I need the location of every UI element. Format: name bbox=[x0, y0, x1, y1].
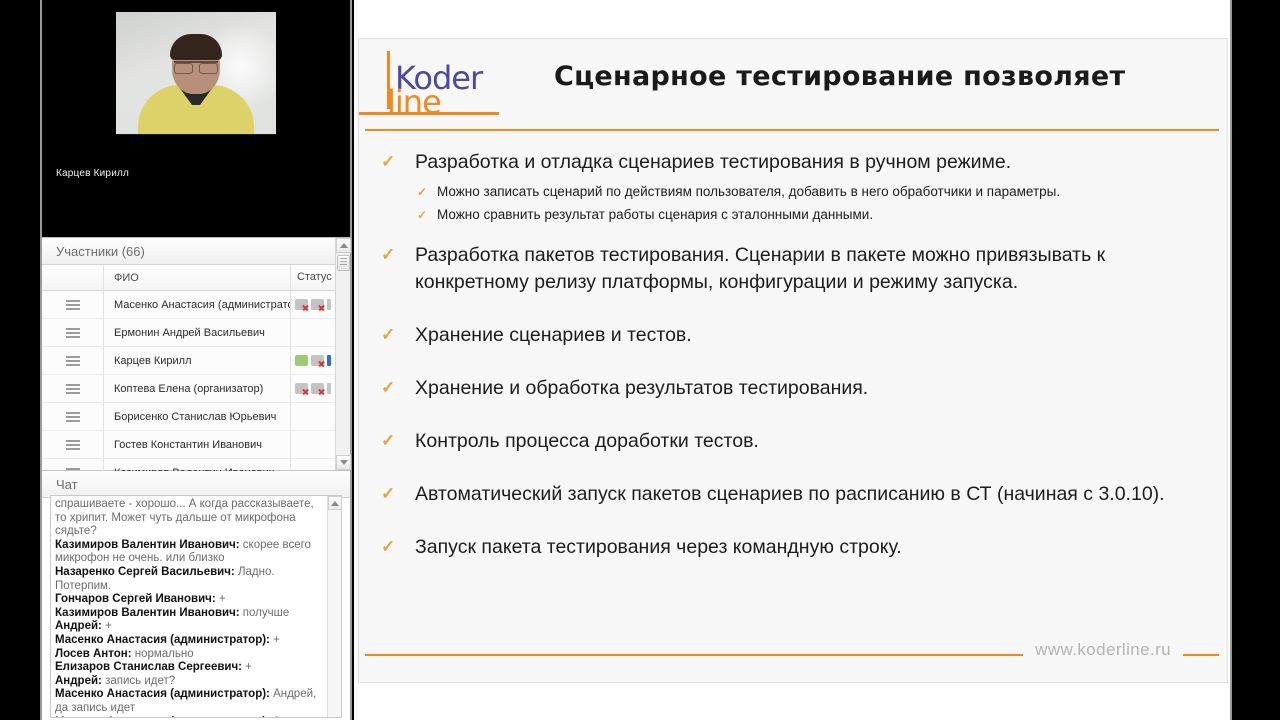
chat-scrollbar[interactable] bbox=[327, 496, 341, 717]
chat-message: Андрей: + bbox=[55, 620, 323, 634]
participants-title: Участники (66) bbox=[42, 238, 350, 265]
right-letterbox bbox=[1234, 0, 1280, 720]
slide-bullet-list: ✓Разработка и отладка сценариев тестиров… bbox=[381, 149, 1213, 587]
row-grip-icon[interactable] bbox=[42, 375, 104, 402]
slide-sub-bullet-text: Можно записать сценарий по действиям пол… bbox=[437, 182, 1060, 202]
table-row[interactable]: Борисенко Станислав Юрьевич bbox=[42, 403, 350, 431]
scroll-down-arrow-icon[interactable] bbox=[336, 455, 351, 470]
slide-bullet-text: Разработка пакетов тестирования. Сценари… bbox=[415, 242, 1213, 296]
chat-message: Масенко Анастасия (администратор): + bbox=[55, 634, 323, 648]
bullet-spacer bbox=[381, 408, 1213, 428]
bullet-spacer bbox=[381, 567, 1213, 587]
participant-name: Ермонин Андрей Васильевич bbox=[104, 327, 290, 339]
chat-title: Чат bbox=[42, 471, 350, 498]
participant-name: Гостев Константин Иванович bbox=[104, 439, 290, 451]
koderline-logo: Koder line bbox=[377, 51, 497, 123]
chat-message: Елизаров Станислав Сергеевич: + bbox=[55, 661, 323, 675]
slide-bullet: ✓Контроль процесса доработки тестов. bbox=[381, 428, 1213, 455]
camera-icon bbox=[311, 383, 324, 394]
scrollbar-thumb[interactable] bbox=[337, 255, 350, 271]
slide-bullet: ✓Хранение и обработка результатов тестир… bbox=[381, 375, 1213, 402]
meeting-window: Карцев Кирилл Участники (66) ФИО Статус … bbox=[0, 0, 1280, 720]
participant-name: Борисенко Станислав Юрьевич bbox=[104, 411, 290, 423]
slide-bullet-text: Разработка и отладка сценариев тестирова… bbox=[415, 149, 1011, 176]
slide-sub-bullet: ✓Можно сравнить результат работы сценари… bbox=[417, 205, 1213, 225]
bullet-spacer bbox=[381, 302, 1213, 322]
slide-sub-bullet: ✓Можно записать сценарий по действиям по… bbox=[417, 182, 1213, 202]
slide-footer: www.koderline.ru bbox=[365, 654, 1219, 656]
table-row[interactable]: Масенко Анастасия (администратор) bbox=[42, 291, 350, 319]
slide-bullet-text: Хранение и обработка результатов тестиро… bbox=[415, 375, 868, 402]
chat-message: спрашиваете - хорошо... А когда рассказы… bbox=[55, 498, 323, 539]
check-icon: ✓ bbox=[381, 149, 415, 175]
signal-level-icon bbox=[327, 299, 331, 310]
slide-header: Koder line Сценарное тестирование позвол… bbox=[359, 39, 1227, 131]
check-icon: ✓ bbox=[381, 428, 415, 454]
slide-bullet: ✓Хранение сценариев и тестов. bbox=[381, 322, 1213, 349]
logo-horizontal-bar bbox=[359, 112, 499, 115]
participants-scrollbar[interactable] bbox=[335, 238, 350, 470]
table-row[interactable]: Ермонин Андрей Васильевич bbox=[42, 319, 350, 347]
microphone-icon bbox=[295, 299, 308, 310]
webcam-panel[interactable]: Карцев Кирилл bbox=[42, 0, 350, 238]
check-icon: ✓ bbox=[381, 534, 415, 560]
chat-message: Лосев Антон: нормально bbox=[55, 648, 323, 662]
webcam-bottom-edge bbox=[116, 134, 276, 135]
left-letterbox bbox=[0, 0, 40, 720]
table-row[interactable]: Гостев Константин Иванович bbox=[42, 431, 350, 459]
webcam-video bbox=[116, 12, 276, 135]
webcam-person-glasses bbox=[174, 61, 218, 70]
row-grip-icon[interactable] bbox=[42, 403, 104, 430]
column-header-grip bbox=[42, 265, 104, 290]
chat-message: Казимиров Валентин Иванович: получше bbox=[55, 607, 323, 621]
chat-message-list[interactable]: спрашиваете - хорошо... А когда рассказы… bbox=[50, 495, 342, 718]
participants-table: ФИО Статус Масенко Анастасия (администра… bbox=[42, 265, 350, 487]
check-icon: ✓ bbox=[381, 322, 415, 348]
chat-message: Андрей: запись идет? bbox=[55, 675, 323, 689]
presentation-area: Koder line Сценарное тестирование позвол… bbox=[354, 0, 1232, 720]
footer-website: www.koderline.ru bbox=[1023, 640, 1183, 660]
bullet-spacer bbox=[381, 514, 1213, 534]
row-grip-icon[interactable] bbox=[42, 291, 104, 318]
slide-sub-bullet-text: Можно сравнить результат работы сценария… bbox=[437, 205, 873, 225]
participants-table-header: ФИО Статус bbox=[42, 265, 350, 291]
chat-scroll-up-arrow-icon[interactable] bbox=[328, 496, 342, 510]
slide: Koder line Сценарное тестирование позвол… bbox=[358, 38, 1228, 683]
slide-bullet: ✓Автоматический запуск пакетов сценариев… bbox=[381, 481, 1213, 508]
slide-bullet: ✓Разработка и отладка сценариев тестиров… bbox=[381, 149, 1213, 176]
row-grip-icon[interactable] bbox=[42, 319, 104, 346]
chat-message: Масенко Анастасия (администратор): Запис… bbox=[55, 716, 323, 719]
bullet-spacer bbox=[381, 461, 1213, 481]
title-divider bbox=[365, 129, 1219, 131]
participant-name: Карцев Кирилл bbox=[104, 355, 290, 367]
participant-name: Коптева Елена (организатор) bbox=[104, 383, 290, 395]
microphone-icon bbox=[295, 383, 308, 394]
signal-level-icon bbox=[327, 355, 331, 366]
participants-rows: Масенко Анастасия (администратор)Ермонин… bbox=[42, 291, 350, 487]
table-row[interactable]: Карцев Кирилл bbox=[42, 347, 350, 375]
webcam-name-label: Карцев Кирилл bbox=[56, 168, 129, 179]
chat-panel: Чат Общий спрашиваете - хорошо... А когд… bbox=[42, 471, 350, 720]
bullet-spacer bbox=[381, 228, 1213, 242]
slide-bullet-text: Хранение сценариев и тестов. bbox=[415, 322, 692, 349]
participant-name: Масенко Анастасия (администратор) bbox=[104, 299, 290, 311]
slide-bullet-text: Автоматический запуск пакетов сценариев … bbox=[415, 481, 1165, 508]
logo-text-line: line bbox=[387, 83, 441, 121]
chat-message: Казимиров Валентин Иванович: скорее всег… bbox=[55, 539, 323, 566]
check-icon: ✓ bbox=[381, 242, 415, 268]
microphone-icon bbox=[295, 355, 308, 366]
check-icon: ✓ bbox=[381, 375, 415, 401]
table-row[interactable]: Коптева Елена (организатор) bbox=[42, 375, 350, 403]
slide-bullet-text: Запуск пакета тестирования через командн… bbox=[415, 534, 902, 561]
chat-message: Назаренко Сергей Васильевич: Ладно. Поте… bbox=[55, 566, 323, 593]
row-grip-icon[interactable] bbox=[42, 347, 104, 374]
check-icon: ✓ bbox=[417, 205, 437, 225]
check-icon: ✓ bbox=[417, 182, 437, 202]
camera-icon bbox=[311, 355, 324, 366]
slide-bullet: ✓Разработка пакетов тестирования. Сценар… bbox=[381, 242, 1213, 296]
bullet-spacer bbox=[381, 355, 1213, 375]
column-header-name: ФИО bbox=[104, 272, 290, 284]
participants-panel: Участники (66) ФИО Статус Масенко Анаста… bbox=[42, 238, 350, 471]
chat-message: Гончаров Сергей Иванович: + bbox=[55, 593, 323, 607]
signal-level-icon bbox=[327, 383, 331, 394]
webcam-person-hair bbox=[170, 34, 222, 60]
slide-bullet: ✓Запуск пакета тестирования через команд… bbox=[381, 534, 1213, 561]
camera-icon bbox=[311, 299, 324, 310]
left-sidebar: Карцев Кирилл Участники (66) ФИО Статус … bbox=[40, 0, 352, 720]
check-icon: ✓ bbox=[381, 481, 415, 507]
scroll-up-arrow-icon[interactable] bbox=[336, 238, 351, 253]
row-grip-icon[interactable] bbox=[42, 431, 104, 458]
slide-bullet-text: Контроль процесса доработки тестов. bbox=[415, 428, 759, 455]
chat-message: Масенко Анастасия (администратор): Андре… bbox=[55, 688, 323, 715]
slide-title: Сценарное тестирование позволяет bbox=[554, 61, 1214, 92]
